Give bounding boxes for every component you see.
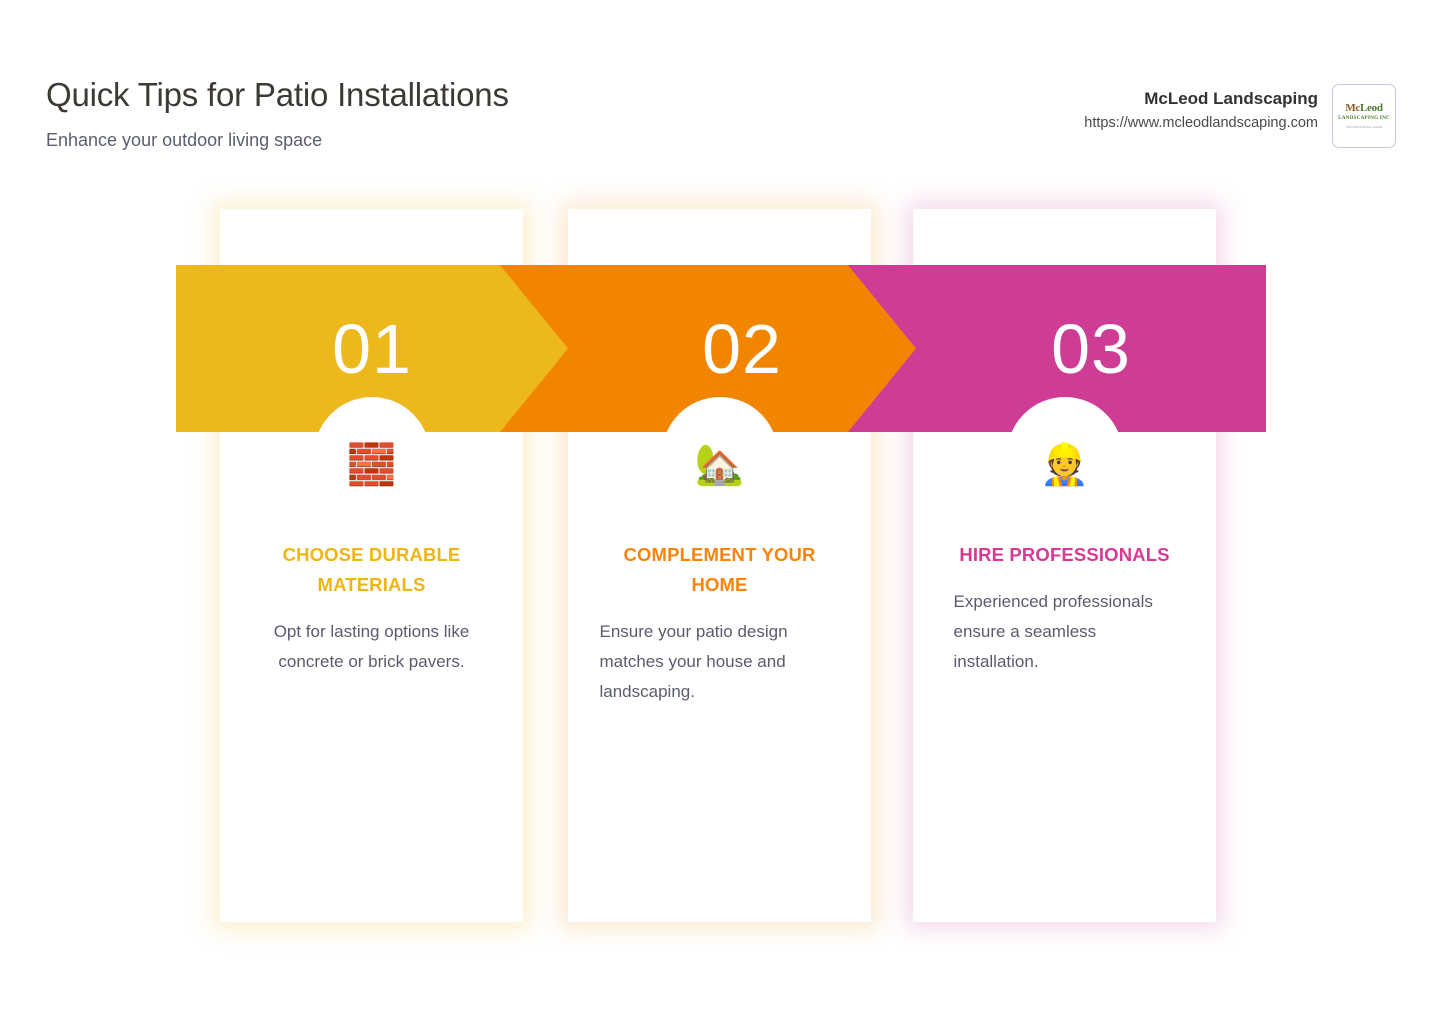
step-card-1-body: Opt for lasting options like concrete or… bbox=[254, 617, 490, 678]
step-card-3-content: 👷 HIRE PROFESSIONALS Experienced profess… bbox=[913, 441, 1216, 678]
chevron-segment-1 bbox=[176, 265, 568, 432]
step-card-2-heading: COMPLEMENT YOUR HOME bbox=[605, 540, 835, 600]
brick-icon: 🧱 bbox=[347, 441, 397, 489]
step-card-1-heading: CHOOSE DURABLE MATERIALS bbox=[257, 540, 487, 600]
step-card-3-heading: HIRE PROFESSIONALS bbox=[950, 540, 1180, 570]
step-card-3-body: Experienced professionals ensure a seaml… bbox=[954, 587, 1176, 678]
step-card-2-content: 🏡 COMPLEMENT YOUR HOME Ensure your patio… bbox=[568, 441, 871, 708]
step-card-1-content: 🧱 CHOOSE DURABLE MATERIALS Opt for lasti… bbox=[220, 441, 523, 677]
steps-chevron-band: 01 02 03 bbox=[176, 265, 1266, 432]
chevron-band-svg bbox=[176, 265, 1266, 432]
step-card-2-body: Ensure your patio design matches your ho… bbox=[600, 617, 840, 708]
construction-worker-icon: 👷 bbox=[1040, 441, 1090, 489]
steps-cards-layer: 🧱 CHOOSE DURABLE MATERIALS Opt for lasti… bbox=[0, 0, 1440, 1024]
house-with-garden-icon: 🏡 bbox=[695, 441, 745, 489]
